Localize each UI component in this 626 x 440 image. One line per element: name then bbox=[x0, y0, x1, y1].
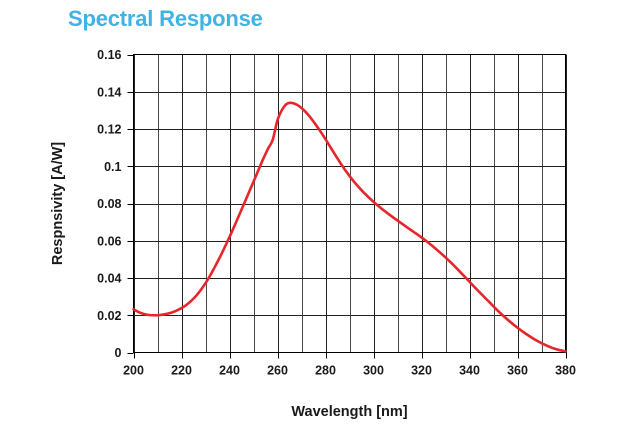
x-tick-label: 200 bbox=[123, 364, 144, 378]
y-tick-label: 0.06 bbox=[97, 234, 121, 248]
y-tick-label: 0.04 bbox=[97, 272, 121, 286]
y-tick-label: 0.08 bbox=[97, 197, 121, 211]
x-tick-label: 260 bbox=[267, 364, 288, 378]
y-tick-label: 0.14 bbox=[97, 85, 121, 99]
plot-canvas: 200220240260280300320340360380 00.020.04… bbox=[0, 0, 626, 440]
x-tick-label: 340 bbox=[459, 364, 480, 378]
data-series-responsivity bbox=[134, 103, 566, 352]
plot-frame bbox=[134, 55, 566, 353]
y-axis-tick-labels: 00.020.040.060.080.10.120.140.16 bbox=[97, 48, 121, 360]
grid-minor-lines bbox=[159, 55, 543, 353]
x-axis-tick-labels: 200220240260280300320340360380 bbox=[123, 364, 576, 378]
x-tick-label: 360 bbox=[507, 364, 528, 378]
x-tick-label: 280 bbox=[315, 364, 336, 378]
x-tick-label: 320 bbox=[411, 364, 432, 378]
x-tick-label: 220 bbox=[171, 364, 192, 378]
y-tick-label: 0.16 bbox=[97, 48, 121, 62]
y-tick-label: 0.02 bbox=[97, 309, 121, 323]
y-tick-label: 0.1 bbox=[104, 160, 121, 174]
x-tick-label: 380 bbox=[555, 364, 576, 378]
y-tick-label: 0.12 bbox=[97, 123, 121, 137]
series-line-responsivity bbox=[134, 103, 566, 352]
x-tick-label: 240 bbox=[219, 364, 240, 378]
spectral-response-chart: Spectral Response 2002202402602803003203… bbox=[0, 0, 626, 440]
y-axis-title: Respnsivity [A/W] bbox=[50, 142, 66, 265]
y-tick-label: 0 bbox=[115, 346, 122, 360]
x-axis-title: Wavelength [nm] bbox=[291, 404, 407, 420]
x-tick-label: 300 bbox=[363, 364, 384, 378]
